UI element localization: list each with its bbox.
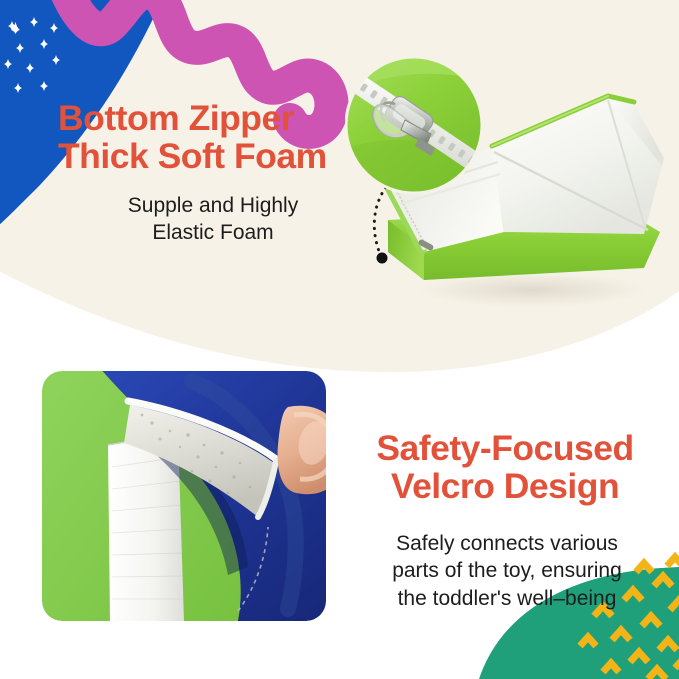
- velcro-closeup-photo: [42, 371, 326, 621]
- bottom-subcopy: Safely connects various parts of the toy…: [348, 530, 666, 612]
- top-headline: Bottom Zipper Thick Soft Foam: [58, 100, 388, 175]
- infographic-canvas: Bottom Zipper Thick Soft Foam Supple and…: [0, 0, 679, 679]
- velcro-photo-graphic: [42, 371, 326, 621]
- bottom-headline: Safety-Focused Velcro Design: [350, 430, 660, 505]
- top-subcopy: Supple and Highly Elastic Foam: [58, 192, 368, 247]
